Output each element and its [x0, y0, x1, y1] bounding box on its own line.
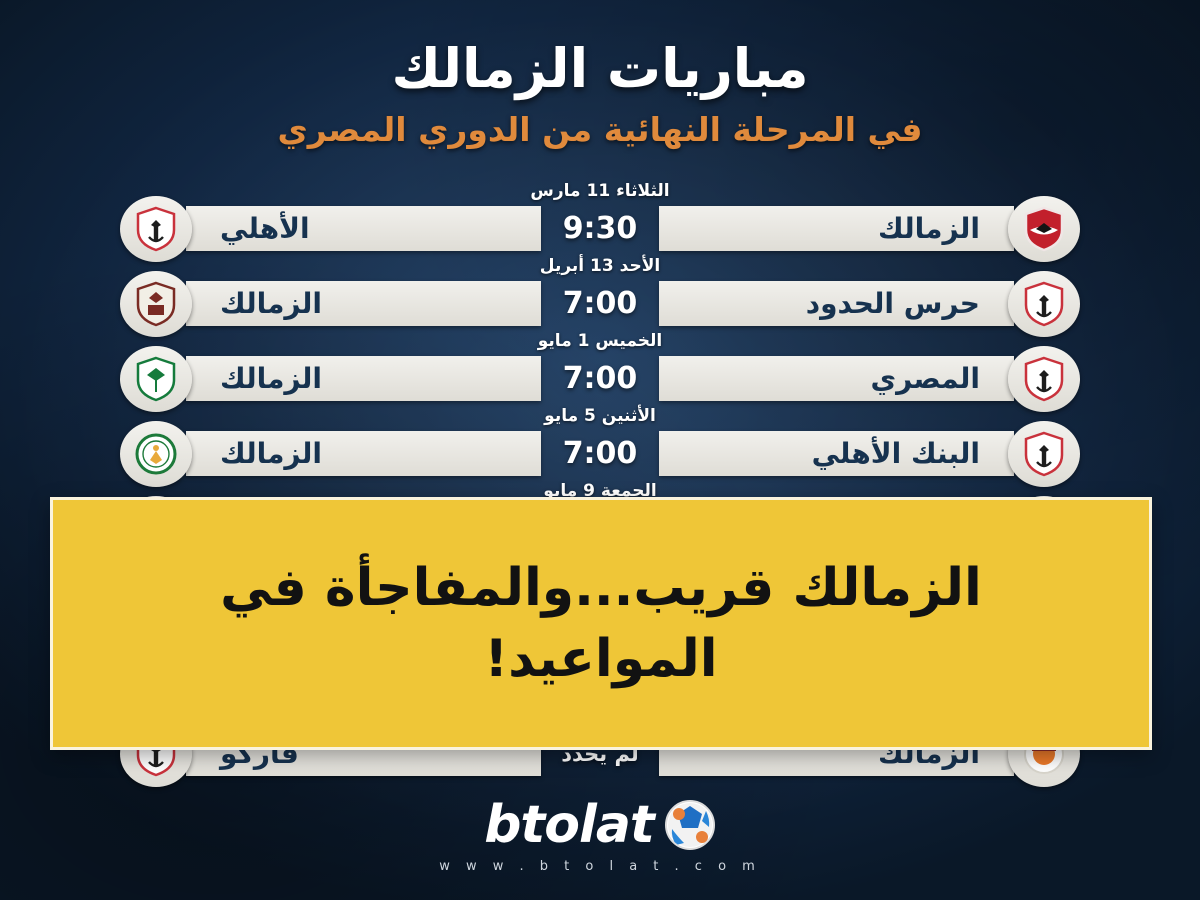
fixture-date: الثلاثاء 11 مارس: [0, 178, 1200, 204]
fixture-row: الأثنين 5 مايو البنك الأهلي7:00الزمالك: [0, 403, 1200, 478]
footer-branding: btolat w w w . b t o l a t . c o m: [0, 799, 1200, 874]
away-team-bar: الزمالك: [186, 356, 541, 401]
brand-logo: btolat: [484, 799, 716, 851]
home-team-name: البنك الأهلي: [812, 440, 980, 468]
albank-alahly-badge-icon: [120, 421, 192, 487]
away-team-bar: الزمالك: [186, 281, 541, 326]
overlay-headline: الزمالك قريب...والمفاجأة في المواعيد!: [113, 553, 1089, 693]
away-team-name: الزمالك: [220, 365, 322, 393]
home-team-bar: الزمالك: [659, 206, 1014, 251]
fixture-row: الثلاثاء 11 مارس الزمالك9:30الأهلي: [0, 178, 1200, 253]
home-team-bar: المصري: [659, 356, 1014, 401]
away-team-name: الأهلي: [220, 215, 310, 243]
fixture-date: الخميس 1 مايو: [0, 328, 1200, 354]
fixture-row: الأحد 13 أبريل حرس الحدود7:00الزمالك: [0, 253, 1200, 328]
page-subtitle: في المرحلة النهائية من الدوري المصري: [0, 110, 1200, 150]
away-team-name: الزمالك: [220, 290, 322, 318]
away-team-name: الزمالك: [220, 440, 322, 468]
fixture-teams-row: المصري7:00الزمالك: [0, 354, 1200, 403]
away-team-bar: الأهلي: [186, 206, 541, 251]
masry-badge-icon: [120, 346, 192, 412]
football-logo-icon: [664, 799, 716, 851]
zamalek-badge-icon: [1008, 421, 1080, 487]
overlay-banner: الزمالك قريب...والمفاجأة في المواعيد!: [50, 497, 1152, 750]
fixture-teams-row: البنك الأهلي7:00الزمالك: [0, 429, 1200, 478]
poster-root: مباريات الزمالك في المرحلة النهائية من ا…: [0, 0, 1200, 900]
home-team-name: المصري: [870, 365, 980, 393]
zamalek-badge-icon: [120, 196, 192, 262]
fixture-date: الأحد 13 أبريل: [0, 253, 1200, 279]
fixture-row: الخميس 1 مايو المصري7:00الزمالك: [0, 328, 1200, 403]
brand-wordmark: btolat: [484, 799, 654, 851]
match-time: 7:00: [541, 286, 659, 321]
zamalek-badge-icon: [1008, 346, 1080, 412]
match-time: 7:00: [541, 361, 659, 396]
headings-block: مباريات الزمالك في المرحلة النهائية من ا…: [0, 38, 1200, 150]
match-time: 9:30: [541, 211, 659, 246]
ahly-badge-icon: [1008, 196, 1080, 262]
home-team-bar: حرس الحدود: [659, 281, 1014, 326]
fixture-date: الأثنين 5 مايو: [0, 403, 1200, 429]
home-team-name: حرس الحدود: [806, 290, 980, 318]
fixture-teams-row: حرس الحدود7:00الزمالك: [0, 279, 1200, 328]
zamalek-badge-icon: [1008, 271, 1080, 337]
away-team-bar: الزمالك: [186, 431, 541, 476]
page-title: مباريات الزمالك: [0, 38, 1200, 100]
match-time: 7:00: [541, 436, 659, 471]
fixture-teams-row: الزمالك9:30الأهلي: [0, 204, 1200, 253]
home-team-name: الزمالك: [878, 215, 980, 243]
haras-elhodoud-badge-icon: [120, 271, 192, 337]
brand-url: w w w . b t o l a t . c o m: [0, 859, 1200, 874]
home-team-bar: البنك الأهلي: [659, 431, 1014, 476]
